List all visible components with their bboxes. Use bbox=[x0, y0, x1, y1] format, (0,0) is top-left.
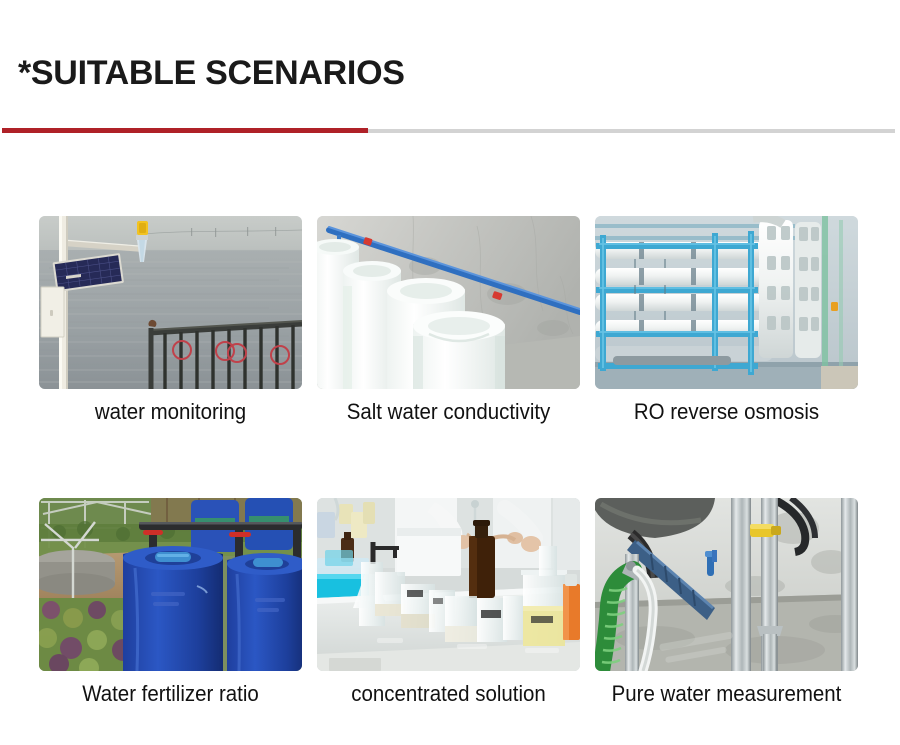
salt-water-tanks-photo bbox=[317, 216, 580, 389]
scenario-card[interactable]: Water fertilizer ratio bbox=[39, 498, 302, 709]
scenario-caption: Water fertilizer ratio bbox=[48, 679, 293, 709]
laboratory-beakers-photo bbox=[317, 498, 580, 671]
scenario-card[interactable]: concentrated solution bbox=[317, 498, 580, 709]
scenario-caption: concentrated solution bbox=[326, 679, 571, 709]
scenario-card[interactable]: RO reverse osmosis bbox=[595, 216, 858, 427]
pure-water-equipment-photo bbox=[595, 498, 858, 671]
water-fertilizer-tanks-photo bbox=[39, 498, 302, 671]
title-underline-accent bbox=[2, 128, 368, 133]
scenario-caption: water monitoring bbox=[48, 397, 293, 427]
page-title: *SUITABLE SCENARIOS bbox=[18, 54, 405, 93]
scenarios-row: water monitoring bbox=[39, 216, 859, 427]
scenario-card[interactable]: water monitoring bbox=[39, 216, 302, 427]
ro-reverse-osmosis-skid-photo bbox=[595, 216, 858, 389]
water-monitoring-station-photo bbox=[39, 216, 302, 389]
scenario-card[interactable]: Salt water conductivity bbox=[317, 216, 580, 427]
scenarios-grid: water monitoring bbox=[39, 216, 859, 709]
title-underline bbox=[0, 128, 900, 136]
scenarios-row: Water fertilizer ratio bbox=[39, 498, 859, 709]
scenario-caption: RO reverse osmosis bbox=[604, 397, 849, 427]
scenario-caption: Pure water measurement bbox=[604, 679, 849, 709]
scenario-card[interactable]: Pure water measurement bbox=[595, 498, 858, 709]
scenario-caption: Salt water conductivity bbox=[326, 397, 571, 427]
title-underline-track bbox=[368, 129, 895, 133]
suitable-scenarios-page: *SUITABLE SCENARIOS bbox=[0, 0, 900, 745]
